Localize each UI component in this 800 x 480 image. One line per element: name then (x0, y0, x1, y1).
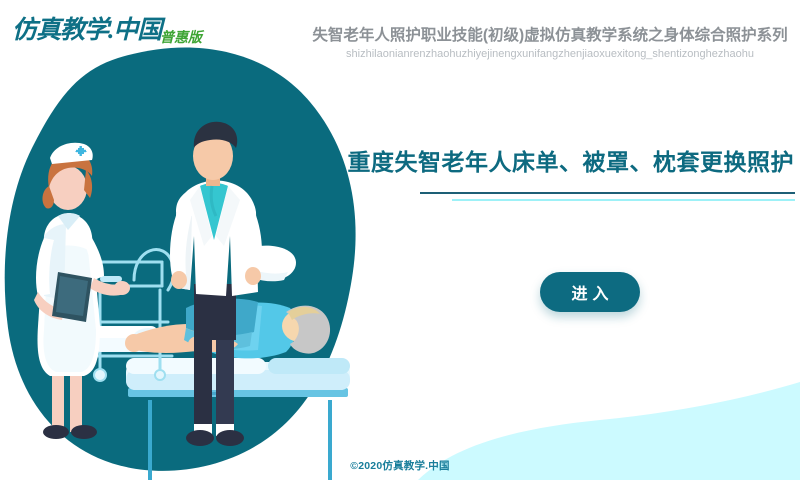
title-underline-dark (420, 192, 795, 194)
lesson-title: 重度失智老年人床单、被罩、枕套更换照护 (348, 146, 795, 178)
system-title: 失智老年人照护职业技能(初级)虚拟仿真教学系统之身体综合照护系列 (300, 26, 800, 46)
presentation-cover-slide: 仿真教学.中国 普惠版 失智老年人照护职业技能(初级)虚拟仿真教学系统之身体综合… (0, 0, 800, 480)
logo-brand-text: 仿真教学.中国 (12, 16, 166, 44)
logo-edition-text: 普惠版 (160, 29, 205, 46)
header-block: 失智老年人照护职业技能(初级)虚拟仿真教学系统之身体综合照护系列 shizhil… (300, 26, 800, 62)
enter-button[interactable]: 进入 (540, 272, 640, 312)
title-underline-light (452, 199, 795, 201)
care-scene-illustration (0, 40, 400, 480)
system-title-pinyin: shizhilaonianrenzhaohuzhiyejinengxunifan… (300, 46, 800, 62)
site-logo[interactable]: 仿真教学.中国 普惠版 (12, 8, 212, 50)
copyright-footer: ©2020仿真教学.中国 (0, 458, 800, 473)
lesson-title-block: 重度失智老年人床单、被罩、枕套更换照护 (348, 146, 795, 178)
